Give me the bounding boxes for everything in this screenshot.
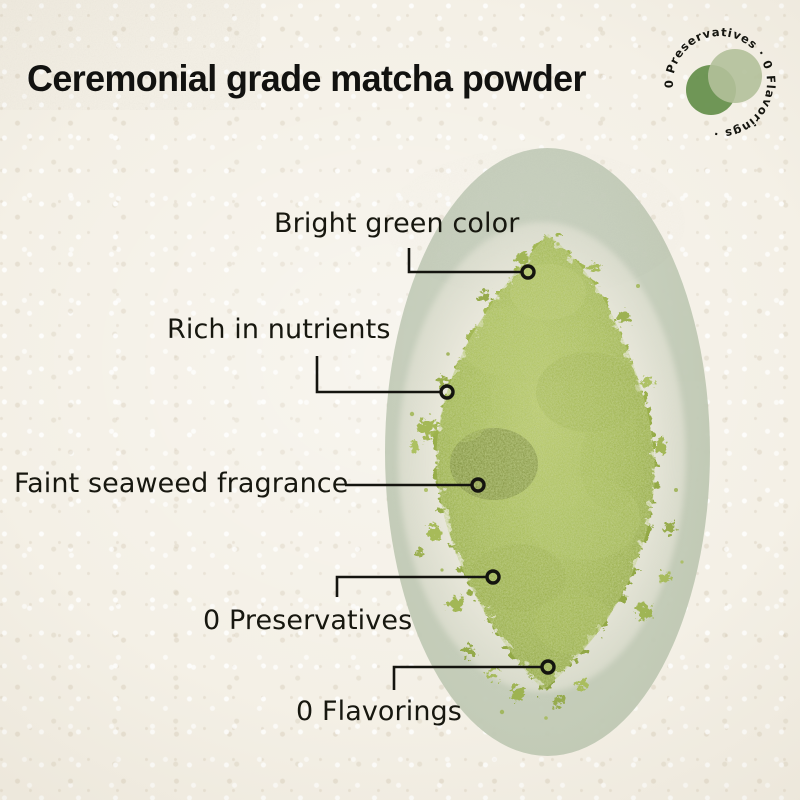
page-title: Ceremonial grade matcha powder <box>27 58 586 100</box>
matcha-infographic: Bright green color Rich in nutrients Fai… <box>0 0 800 800</box>
callout-faint-seaweed-fragrance: Faint seaweed fragrance <box>14 470 348 497</box>
badge-circle-front <box>708 49 762 103</box>
callout-zero-preservatives: 0 Preservatives <box>203 607 412 634</box>
preservative-free-badge: 0 Preservatives · 0 Flavorings · <box>655 18 785 148</box>
callout-rich-in-nutrients: Rich in nutrients <box>167 316 391 343</box>
matcha-powder-pile <box>398 232 688 692</box>
callout-zero-flavorings: 0 Flavorings <box>296 698 462 725</box>
callout-bright-green-color: Bright green color <box>274 210 519 237</box>
